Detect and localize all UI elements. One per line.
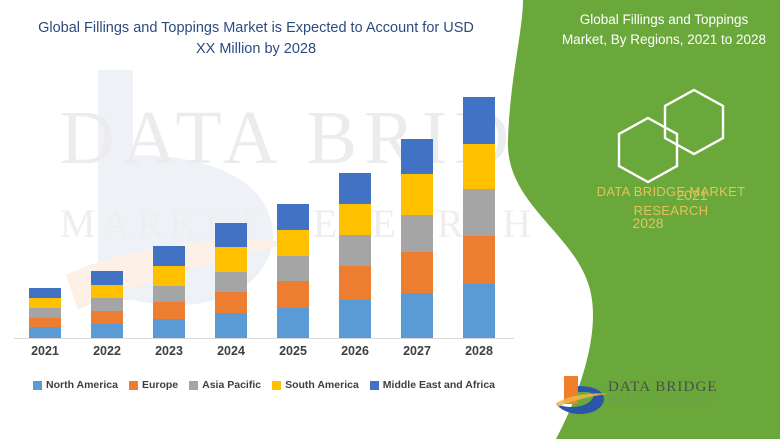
bar-segment [29,298,61,308]
bar-segment [339,235,371,266]
bar-2026 [339,173,371,338]
bar-segment [277,230,309,256]
legend-swatch [33,381,42,390]
bar-2027 [401,139,433,338]
x-axis-line [14,338,514,339]
bar-2022 [91,271,123,338]
bar-2024 [215,223,247,339]
legend-item: Europe [129,379,178,391]
hexagon-group: 2021 2028 [590,84,760,196]
chart-title: Global Fillings and Toppings Market is E… [36,18,476,60]
bar-segment [401,252,433,293]
bar-segment [29,318,61,328]
bar-segment [91,285,123,299]
bar-segment [91,324,123,338]
legend-swatch [370,381,379,390]
x-tick-2025: 2025 [263,344,323,358]
x-tick-2021: 2021 [15,344,75,358]
bar-segment [29,308,61,318]
bar-segment [277,308,309,338]
bar-2028 [463,97,495,338]
bar-segment [91,271,123,285]
legend-label: Middle East and Africa [383,379,495,391]
chart-plot-area [14,92,510,338]
legend-swatch [189,381,198,390]
legend-label: Asia Pacific [202,379,261,391]
x-tick-2027: 2027 [387,344,447,358]
bar-segment [29,288,61,299]
bar-segment [215,272,247,292]
bar-segment [463,97,495,144]
bar-segment [91,298,123,311]
bar-2021 [29,288,61,338]
bar-segment [463,236,495,284]
bar-segment [401,139,433,174]
bar-segment [215,247,247,272]
x-tick-2023: 2023 [139,344,199,358]
bar-segment [153,302,185,319]
legend-item: South America [272,379,359,391]
bar-segment [215,313,247,338]
bar-segment [401,215,433,252]
bar-segment [153,286,185,302]
x-tick-2026: 2026 [325,344,385,358]
legend-item: Asia Pacific [189,379,261,391]
hexagon-2028-shape [619,118,677,182]
legend-swatch [129,381,138,390]
legend-label: South America [285,379,359,391]
panel-title: Global Fillings and Toppings Market, By … [556,10,772,50]
infographic-canvas: DATA BRIDGE MARKET RESEARCH Global Filli… [0,0,780,439]
bar-segment [339,173,371,204]
logo-tagline: MARKET RESEARCH [610,397,716,403]
bar-segment [215,292,247,313]
bar-2025 [277,204,309,338]
bar-segment [153,266,185,285]
bar-segment [401,174,433,215]
panel-brand-text: DATA BRIDGE MARKET RESEARCH [576,182,766,220]
hexagon-2021-shape [665,90,723,154]
legend-swatch [272,381,281,390]
legend-label: Europe [142,379,178,391]
bar-segment [91,311,123,324]
bar-segment [463,189,495,236]
bar-segment [339,300,371,339]
legend-item: North America [33,379,118,391]
bar-segment [339,204,371,235]
bar-segment [215,223,247,248]
chart-legend: North AmericaEuropeAsia PacificSouth Ame… [14,376,514,394]
bar-segment [277,281,309,308]
bar-segment [153,319,185,338]
logo-wordmark: DATA BRIDGE [608,379,718,396]
x-tick-2028: 2028 [449,344,509,358]
data-bridge-logo: DATA BRIDGE MARKET RESEARCH [554,374,730,418]
bar-segment [463,144,495,189]
x-axis-tick-labels: 20212022202320242025202620272028 [14,344,514,366]
bar-2023 [153,246,185,338]
bar-segment [29,327,61,338]
x-tick-2022: 2022 [77,344,137,358]
bar-segment [463,284,495,337]
bar-segment [277,204,309,230]
bar-segment [153,246,185,266]
legend-item: Middle East and Africa [370,379,495,391]
bar-segment [277,256,309,282]
legend-label: North America [46,379,118,391]
bar-segment [339,266,371,299]
x-tick-2024: 2024 [201,344,261,358]
bar-segment [401,293,433,338]
